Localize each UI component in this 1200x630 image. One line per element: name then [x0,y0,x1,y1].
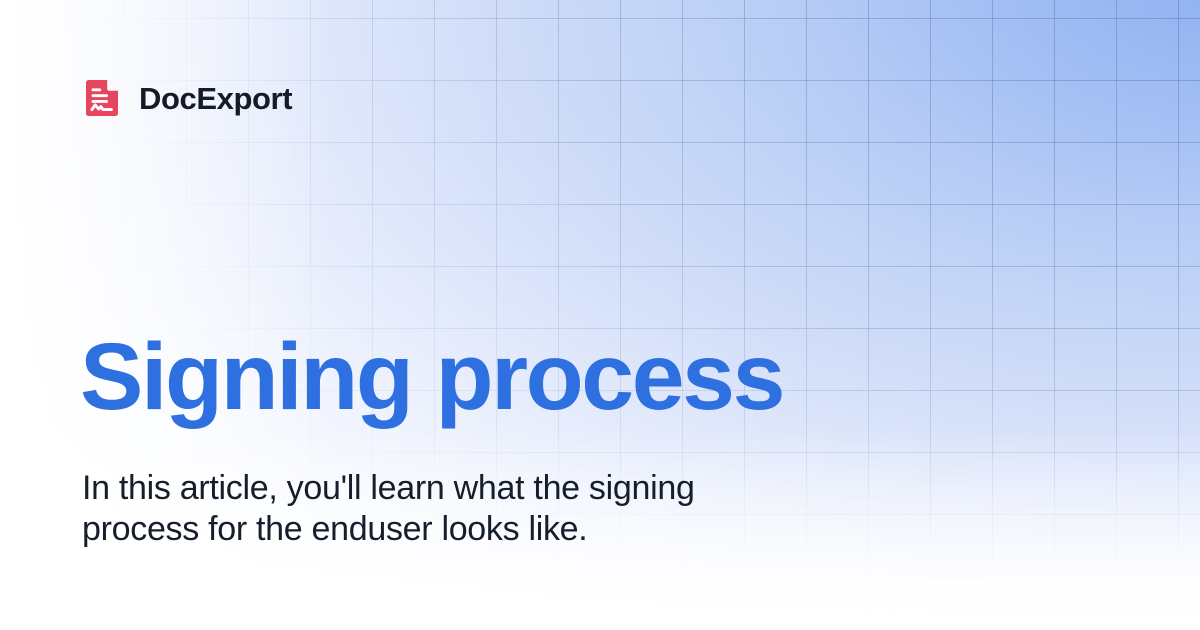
page-subtitle: In this article, you'll learn what the s… [82,468,842,550]
page-subtitle-line-2: process for the enduser looks like. [82,509,842,550]
card-content: DocExport Signing process In this articl… [0,0,1200,630]
document-signature-icon [82,78,122,118]
brand-lockup[interactable]: DocExport [82,78,292,118]
social-card-banner: DocExport Signing process In this articl… [0,0,1200,630]
brand-name: DocExport [139,83,292,114]
page-subtitle-line-1: In this article, you'll learn what the s… [82,468,842,509]
page-title: Signing process [80,330,783,425]
